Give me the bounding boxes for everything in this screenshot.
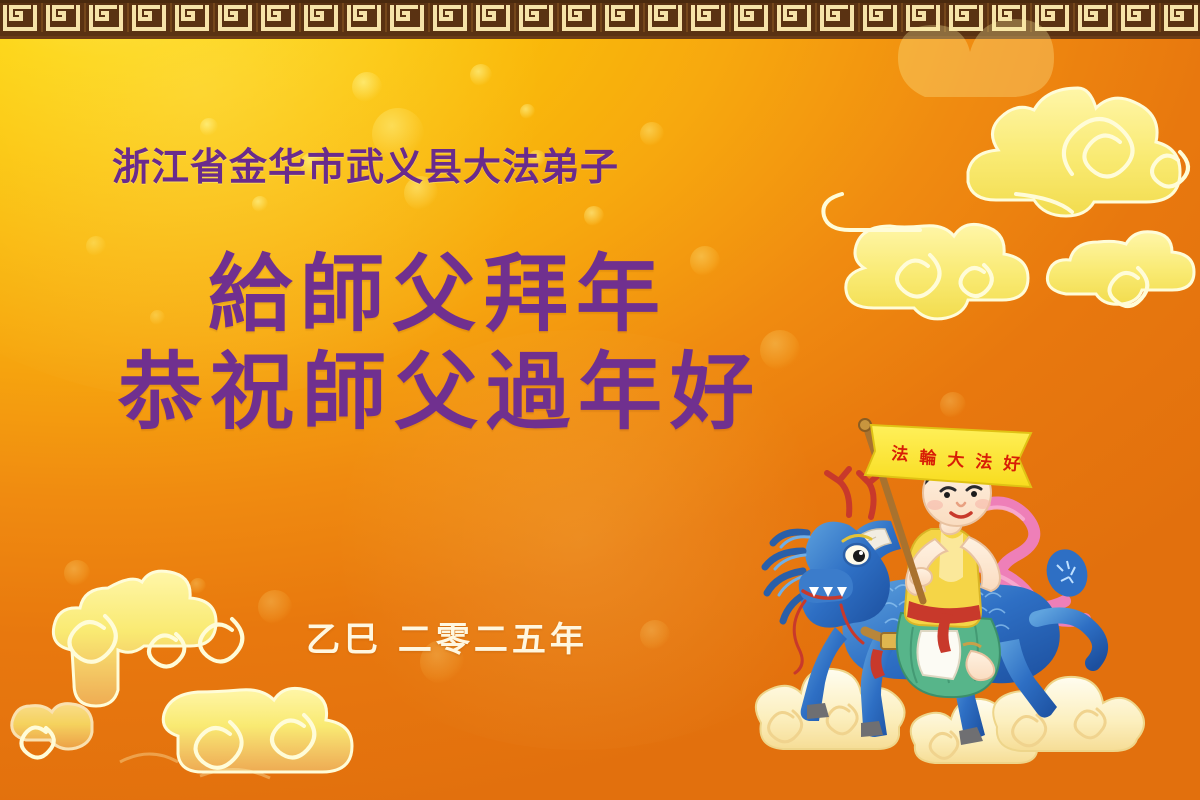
meander-tile: [0, 0, 43, 36]
bokeh-dot: [640, 620, 670, 650]
bokeh-dot: [200, 118, 218, 136]
new-year-greeting-card: 浙江省金华市武义县大法弟子 給師父拜年 恭祝師父過年好 乙巳 二零二五年: [0, 0, 1200, 800]
greeting-line-1: 給師父拜年: [208, 252, 820, 336]
meander-tile: [946, 0, 989, 36]
meander-tile: [774, 0, 817, 36]
bokeh-dot: [584, 206, 604, 226]
greek-key-meander-border: [0, 0, 1200, 39]
meander-tile: [1075, 0, 1118, 36]
meander-tile: [1032, 0, 1075, 36]
meander-tile: [43, 0, 86, 36]
meander-tile: [86, 0, 129, 36]
greeting-block: 給師父拜年 恭祝師父過年好: [0, 252, 820, 434]
meander-tile: [602, 0, 645, 36]
dragon-teeth: [809, 587, 847, 597]
meander-tile: [516, 0, 559, 36]
meander-tile: [688, 0, 731, 36]
meander-tile: [129, 0, 172, 36]
date-line: 乙巳 二零二五年: [306, 612, 588, 661]
bokeh-dot: [258, 590, 292, 624]
meander-tile: [473, 0, 516, 36]
banner-char-3: 大: [947, 449, 965, 471]
meander-tile: [731, 0, 774, 36]
banner-char-4: 法: [975, 451, 993, 473]
meander-tile: [1118, 0, 1161, 36]
bokeh-dot: [190, 578, 206, 594]
banner-char-2: 輪: [919, 447, 938, 469]
meander-tile: [903, 0, 946, 36]
greeting-banner: 法 輪 大 法 好: [865, 425, 1031, 487]
child-riding-dragon-illustration: 法 輪 大 法 好: [745, 405, 1175, 800]
bokeh-dot: [520, 104, 535, 119]
bokeh-dot: [252, 196, 268, 212]
bokeh-dot: [352, 72, 382, 102]
meander-tile: [387, 0, 430, 36]
banner-char-5: 好: [1002, 453, 1021, 475]
cloud-bottom-left: [30, 566, 360, 800]
meander-tile: [301, 0, 344, 36]
donor-line: 浙江省金华市武义县大法弟子: [112, 136, 619, 191]
banner-char-1: 法: [891, 443, 909, 465]
meander-tile: [258, 0, 301, 36]
bokeh-dot: [640, 122, 664, 146]
meander-tile: [645, 0, 688, 36]
greeting-line-2: 恭祝師父過年好: [118, 350, 820, 434]
cloud-top-right: [820, 44, 1200, 374]
meander-tile: [344, 0, 387, 36]
meander-tile: [1161, 0, 1200, 36]
meander-tile: [817, 0, 860, 36]
meander-tile: [430, 0, 473, 36]
bokeh-dot: [64, 560, 90, 586]
meander-tile: [172, 0, 215, 36]
meander-tile: [215, 0, 258, 36]
ribbon-tassel: [1041, 544, 1094, 602]
meander-tile: [559, 0, 602, 36]
bokeh-dot: [470, 64, 492, 86]
meander-tile: [989, 0, 1032, 36]
meander-tile: [860, 0, 903, 36]
